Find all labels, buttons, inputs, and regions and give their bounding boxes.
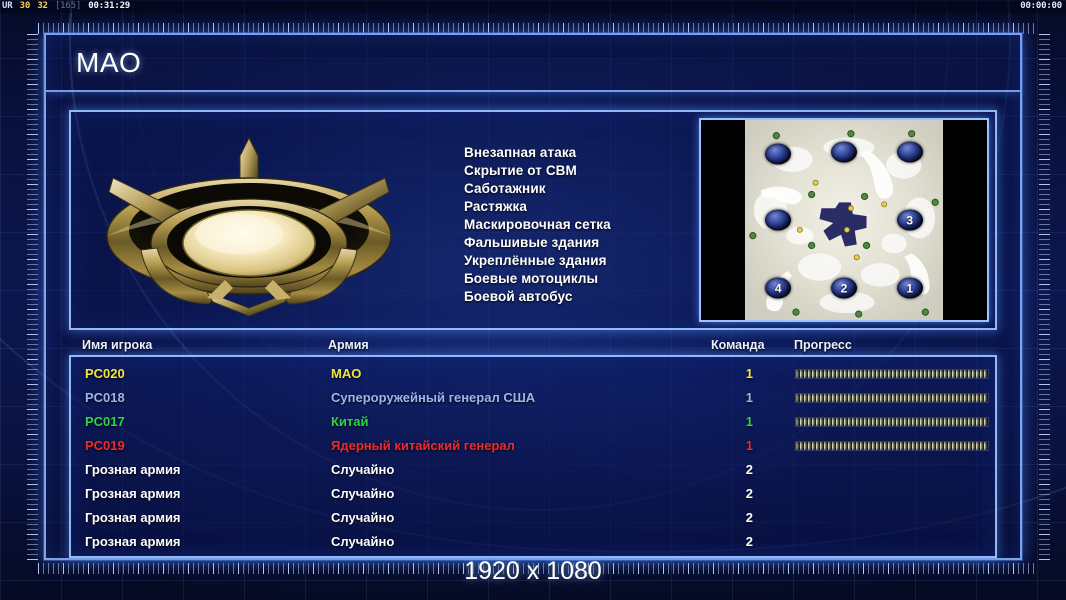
ability-item: Укреплённые здания (464, 252, 611, 269)
map-start-position-dot (765, 210, 791, 231)
player-army: Супероружейный генерал США (331, 386, 535, 410)
player-army: Случайно (331, 530, 394, 554)
map-start-position-marker: 3 (897, 210, 923, 231)
map-start-position-label: 4 (775, 281, 782, 295)
status-bar-left: UR 30 32 [165] 00:31:29 (1, 0, 131, 13)
table-row[interactable]: Грозная армияСлучайно2 (71, 530, 995, 554)
column-header-player-name: Имя игрока (82, 338, 152, 352)
player-army: MAO (331, 362, 361, 386)
map-start-position-marker: 4 (765, 278, 791, 299)
player-team: 2 (743, 458, 753, 482)
table-row[interactable]: PC018Супероружейный генерал США1 (71, 386, 995, 410)
ability-list: Внезапная атакаСкрытие от СВМСаботажникР… (464, 144, 611, 305)
ability-item: Растяжка (464, 198, 611, 215)
map-start-position-marker: 2 (831, 278, 857, 299)
table-row[interactable]: PC017Китай1 (71, 410, 995, 434)
player-team: 1 (743, 362, 753, 386)
progress-bar (795, 417, 989, 427)
column-header-team: Команда (711, 338, 765, 352)
info-panel: Внезапная атакаСкрытие от СВМСаботажникР… (69, 110, 997, 330)
player-name: PC017 (85, 410, 125, 434)
ability-item: Боевые мотоциклы (464, 270, 611, 287)
status-bar: UR 30 32 [165] 00:31:29 00:00:00 (0, 0, 1066, 13)
player-team: 2 (743, 482, 753, 506)
progress-bar-fill (796, 418, 988, 426)
status-value-b: 32 (36, 1, 48, 11)
ability-item: Внезапная атака (464, 144, 611, 161)
loading-screen: UR 30 32 [165] 00:31:29 00:00:00 MAO (0, 0, 1066, 600)
progress-bar (795, 369, 989, 379)
map-start-position-label: 3 (906, 213, 913, 227)
player-team: 2 (743, 530, 753, 554)
player-team: 1 (743, 386, 753, 410)
status-fps-label: UR (1, 1, 13, 11)
table-row[interactable]: PC019Ядерный китайский генерал1 (71, 434, 995, 458)
progress-bar-fill (796, 394, 988, 402)
table-row[interactable]: Грозная армияСлучайно2 (71, 482, 995, 506)
ruler-left (27, 34, 38, 564)
status-value-a: 30 (19, 1, 31, 11)
progress-bar-fill (796, 370, 988, 378)
map-start-position-dot (765, 144, 791, 165)
player-name: Грозная армия (85, 458, 181, 482)
map-start-position-marker: 1 (897, 278, 923, 299)
ruler-right (1039, 34, 1050, 564)
player-name: PC020 (85, 362, 125, 386)
page-title: MAO (76, 47, 141, 79)
player-team: 1 (743, 434, 753, 458)
ability-item: Скрытие от СВМ (464, 162, 611, 179)
progress-bar (795, 441, 989, 451)
player-team: 1 (743, 410, 753, 434)
ability-item: Фальшивые здания (464, 234, 611, 251)
table-row[interactable]: Грозная армияСлучайно2 (71, 506, 995, 530)
status-clock: 00:00:00 (1020, 0, 1062, 13)
ability-item: Боевой автобус (464, 288, 611, 305)
map-start-position-dot (897, 142, 923, 163)
player-team: 2 (743, 506, 753, 530)
status-bracket-value: [165] (54, 1, 82, 11)
status-elapsed-time: 00:31:29 (87, 1, 131, 11)
map-preview[interactable]: 3421 (699, 118, 989, 322)
map-start-position-dot (831, 142, 857, 163)
ability-item: Маскировочная сетка (464, 216, 611, 233)
progress-bar (795, 393, 989, 403)
player-name: Грозная армия (85, 482, 181, 506)
player-name: Грозная армия (85, 530, 181, 554)
resolution-label: 1920 x 1080 (0, 557, 1066, 586)
column-header-progress: Прогресс (794, 338, 852, 352)
player-name: PC018 (85, 386, 125, 410)
map-start-position-label: 1 (906, 281, 913, 295)
map-start-positions: 3421 (701, 120, 987, 320)
progress-bar-fill (796, 442, 988, 450)
ability-item: Саботажник (464, 180, 611, 197)
player-army: Ядерный китайский генерал (331, 434, 515, 458)
general-emblem-icon (99, 130, 399, 316)
player-army: Случайно (331, 506, 394, 530)
player-army: Случайно (331, 482, 394, 506)
roster-header-row: Имя игрока Армия Команда Прогресс (69, 338, 997, 356)
title-bar: MAO (46, 35, 1020, 92)
player-army: Случайно (331, 458, 394, 482)
player-army: Китай (331, 410, 369, 434)
roster-panel: PC020MAO1PC018Супероружейный генерал США… (69, 355, 997, 558)
column-header-army: Армия (328, 338, 369, 352)
table-row[interactable]: PC020MAO1 (71, 362, 995, 386)
player-name: PC019 (85, 434, 125, 458)
general-emblem (99, 130, 399, 316)
map-start-position-label: 2 (841, 281, 848, 295)
table-row[interactable]: Грозная армияСлучайно2 (71, 458, 995, 482)
player-name: Грозная армия (85, 506, 181, 530)
